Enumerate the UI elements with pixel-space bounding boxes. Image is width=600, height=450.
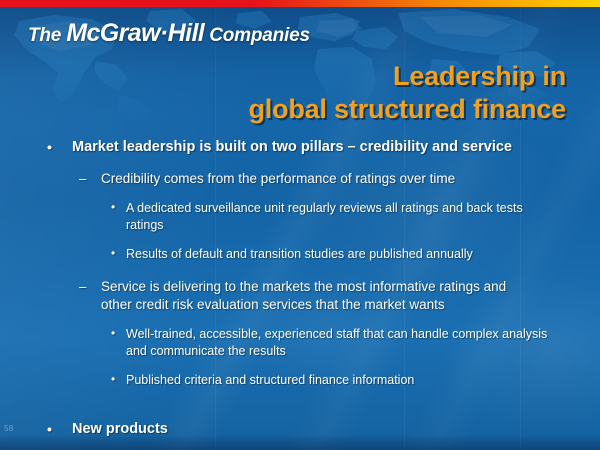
bullet-marker-icon: • <box>111 199 115 215</box>
bullet-text: Well-trained, accessible, experienced st… <box>126 326 552 360</box>
bullet-marker-icon: • <box>111 325 115 341</box>
bullet-level3-well-trained-staff: • Well-trained, accessible, experienced … <box>0 326 600 360</box>
bullet-marker-icon: • <box>47 138 52 156</box>
spacer <box>0 239 600 246</box>
logo-word-the: The <box>28 25 66 46</box>
bullet-text: Market leadership is built on two pillar… <box>72 138 532 157</box>
presentation-slide: The McGraw·Hill Companies Leadership in … <box>0 0 600 450</box>
bullet-level3-published-criteria: • Published criteria and structured fina… <box>0 372 600 389</box>
bullet-text: Published criteria and structured financ… <box>126 372 552 389</box>
bullet-level1-market-leadership: • Market leadership is built on two pill… <box>0 138 600 157</box>
slide-title-line-2: global structured finance <box>126 93 566 126</box>
bullet-text: New products <box>72 421 168 437</box>
bullet-marker-icon: • <box>111 245 115 261</box>
spacer <box>0 365 600 372</box>
spacer <box>0 193 600 200</box>
slide-title-line-1: Leadership in <box>126 60 566 93</box>
bullet-level1-new-products: • New products <box>0 421 600 437</box>
mcgraw-hill-logo: The McGraw·Hill Companies <box>28 21 310 46</box>
spacer <box>0 267 600 278</box>
bullet-marker-icon: • <box>111 371 115 387</box>
bullet-text: Credibility comes from the performance o… <box>101 170 538 188</box>
spacer <box>0 319 600 326</box>
slide-title: Leadership in global structured finance <box>126 60 566 126</box>
logo-word-companies: Companies <box>204 25 310 46</box>
bullet-level2-credibility: – Credibility comes from the performance… <box>0 170 600 188</box>
slide-number: 58 <box>4 424 14 433</box>
bullet-level3-default-transition-studies: • Results of default and transition stud… <box>0 246 600 263</box>
slide-body: • Market leadership is built on two pill… <box>0 138 600 393</box>
bullet-dash-marker-icon: – <box>79 170 86 187</box>
spacer <box>0 163 600 170</box>
bullet-text: A dedicated surveillance unit regularly … <box>126 200 552 234</box>
bullet-level2-service: – Service is delivering to the markets t… <box>0 278 600 314</box>
bullet-text: Results of default and transition studie… <box>126 246 552 263</box>
bullet-level3-surveillance-unit: • A dedicated surveillance unit regularl… <box>0 200 600 234</box>
top-accent-bar <box>0 0 600 7</box>
logo-word-mcgraw-hill: McGraw·Hill <box>66 19 204 47</box>
bullet-dash-marker-icon: – <box>79 278 86 295</box>
bullet-text: Service is delivering to the markets the… <box>101 278 538 314</box>
bullet-marker-icon: • <box>47 421 52 437</box>
